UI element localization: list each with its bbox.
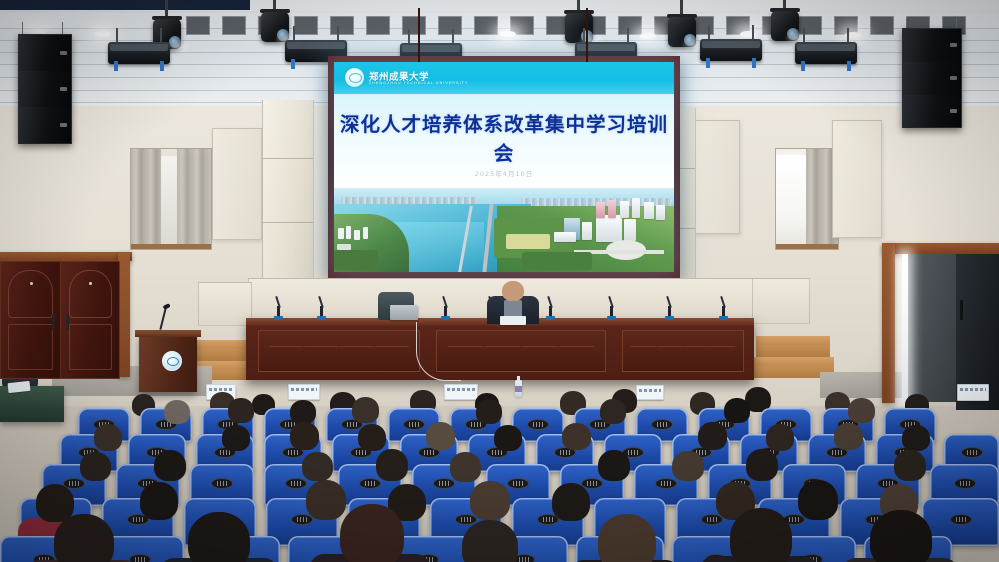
attendee-head bbox=[140, 482, 178, 520]
ceiling-speaker bbox=[108, 42, 170, 64]
wall-acoustic-panel bbox=[690, 120, 740, 234]
attendee-head bbox=[462, 520, 518, 562]
attendee-head bbox=[164, 400, 190, 424]
curtained-window-left bbox=[130, 148, 212, 250]
ceiling-downlight bbox=[640, 33, 656, 39]
table-microphone bbox=[277, 306, 280, 318]
auditorium-photo: 郑州成果大学 ZHENGZHOU TECHNICAL UNIVERSITY 深化… bbox=[0, 0, 999, 562]
left-speaker-stack bbox=[18, 34, 72, 144]
attendee-head bbox=[600, 399, 626, 424]
university-crest-icon bbox=[345, 68, 364, 87]
attendee-head bbox=[848, 398, 875, 423]
attendee-head bbox=[724, 398, 750, 423]
attendee-head bbox=[228, 398, 254, 423]
slide-photo bbox=[334, 188, 674, 272]
stage-back-panel bbox=[752, 278, 810, 324]
table-microphone bbox=[668, 306, 671, 318]
stage-step bbox=[756, 345, 830, 357]
laptop bbox=[390, 305, 418, 320]
attendee-head bbox=[766, 424, 794, 451]
name-card bbox=[957, 384, 989, 401]
name-card bbox=[636, 385, 664, 400]
attendee-head bbox=[352, 397, 379, 423]
attendee-head bbox=[302, 452, 333, 481]
curtained-window-right bbox=[775, 148, 839, 250]
slide-date: 2025年4月10日 bbox=[334, 168, 674, 178]
attendee-head bbox=[188, 512, 250, 562]
attendee-head bbox=[730, 508, 792, 562]
audience-seating bbox=[0, 372, 999, 562]
attendee-head bbox=[834, 423, 863, 450]
attendee-head bbox=[494, 425, 522, 451]
attendee-head bbox=[746, 449, 778, 481]
table-microphone bbox=[549, 306, 552, 318]
wall-pillar-left bbox=[262, 100, 314, 285]
water-bottle bbox=[515, 380, 522, 397]
attendee-head bbox=[80, 452, 111, 481]
attendee-head bbox=[340, 504, 404, 562]
wall-acoustic-panel bbox=[832, 120, 882, 238]
wall-acoustic-panel bbox=[212, 128, 262, 240]
attendee-head bbox=[376, 449, 408, 481]
attendee-head bbox=[222, 425, 250, 451]
stage-back-panel bbox=[198, 282, 252, 326]
attendee-head bbox=[94, 424, 122, 451]
slide-title: 深化人才培养体系改革集中学习培训会 bbox=[334, 108, 674, 166]
stage-step bbox=[742, 357, 834, 366]
stage-light bbox=[665, 12, 699, 52]
attendee-head bbox=[672, 451, 704, 481]
attendee-head bbox=[470, 481, 510, 520]
university-seal-icon bbox=[162, 351, 182, 371]
documents bbox=[500, 316, 526, 325]
slide-header-bar: 郑州成果大学 ZHENGZHOU TECHNICAL UNIVERSITY bbox=[334, 62, 674, 94]
ceiling-downlight bbox=[95, 31, 111, 37]
attendee-head bbox=[154, 450, 186, 481]
attendee-head bbox=[290, 422, 319, 450]
right-speaker-stack bbox=[902, 28, 962, 128]
table-microphone bbox=[722, 306, 725, 318]
attendee-head bbox=[552, 483, 590, 521]
name-card bbox=[288, 384, 320, 400]
presidium-table bbox=[246, 318, 754, 380]
rear-wooden-double-door[interactable] bbox=[0, 261, 62, 379]
attendee-head bbox=[450, 452, 481, 482]
attendee-head bbox=[798, 480, 838, 520]
door-frame-left bbox=[0, 252, 132, 261]
ceiling-speaker bbox=[795, 42, 857, 64]
name-card bbox=[444, 384, 478, 400]
university-name-english: ZHENGZHOU TECHNICAL UNIVERSITY bbox=[369, 81, 469, 85]
led-screen: 郑州成果大学 ZHENGZHOU TECHNICAL UNIVERSITY 深化… bbox=[334, 62, 674, 272]
attendee-head bbox=[54, 514, 114, 562]
attendee-head bbox=[306, 480, 346, 520]
attendee-head bbox=[902, 425, 930, 451]
stage-step bbox=[756, 336, 830, 345]
attendee-head bbox=[598, 450, 630, 481]
ceiling-downlight bbox=[500, 31, 516, 37]
table-microphone bbox=[320, 306, 323, 318]
rear-wooden-double-door[interactable] bbox=[60, 261, 120, 379]
attendee-head bbox=[698, 422, 727, 450]
attendee-head bbox=[358, 424, 386, 451]
table-microphone bbox=[610, 306, 613, 318]
door-frame-right bbox=[882, 243, 999, 254]
attendee-head bbox=[598, 514, 656, 562]
attendee-head bbox=[290, 400, 316, 424]
stage-light bbox=[768, 6, 802, 46]
attendee-head bbox=[870, 510, 932, 562]
ceiling-speaker bbox=[700, 39, 762, 61]
table-microphone bbox=[444, 306, 447, 318]
lectern-top bbox=[135, 330, 201, 337]
attendee-head bbox=[426, 422, 455, 450]
attendee-head bbox=[476, 399, 502, 424]
attendee-head bbox=[894, 450, 926, 481]
attendee-head bbox=[562, 423, 591, 450]
